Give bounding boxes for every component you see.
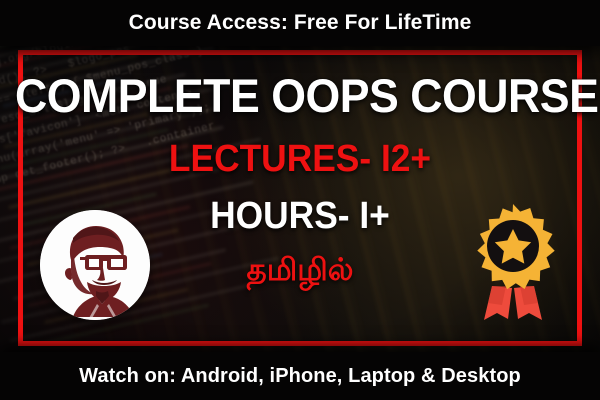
lectures-count-text: LECTURES- I2+	[21, 140, 579, 178]
bottom-banner: Watch on: Android, iPhone, Laptop & Desk…	[0, 352, 600, 400]
course-access-text: Course Access: Free For LifeTime	[129, 11, 472, 35]
avatar	[40, 210, 150, 320]
watch-on-platforms-text: Watch on: Android, iPhone, Laptop & Desk…	[79, 365, 521, 388]
page-title: COMPLETE OOPS COURSE	[15, 72, 585, 119]
award-badge	[462, 198, 564, 326]
award-medal-icon	[462, 198, 564, 326]
top-banner: Course Access: Free For LifeTime	[0, 0, 600, 46]
avatar-portrait-icon	[40, 210, 150, 320]
course-promo-poster: <?php get_header(); ?> <div class="wp-co…	[0, 0, 600, 400]
